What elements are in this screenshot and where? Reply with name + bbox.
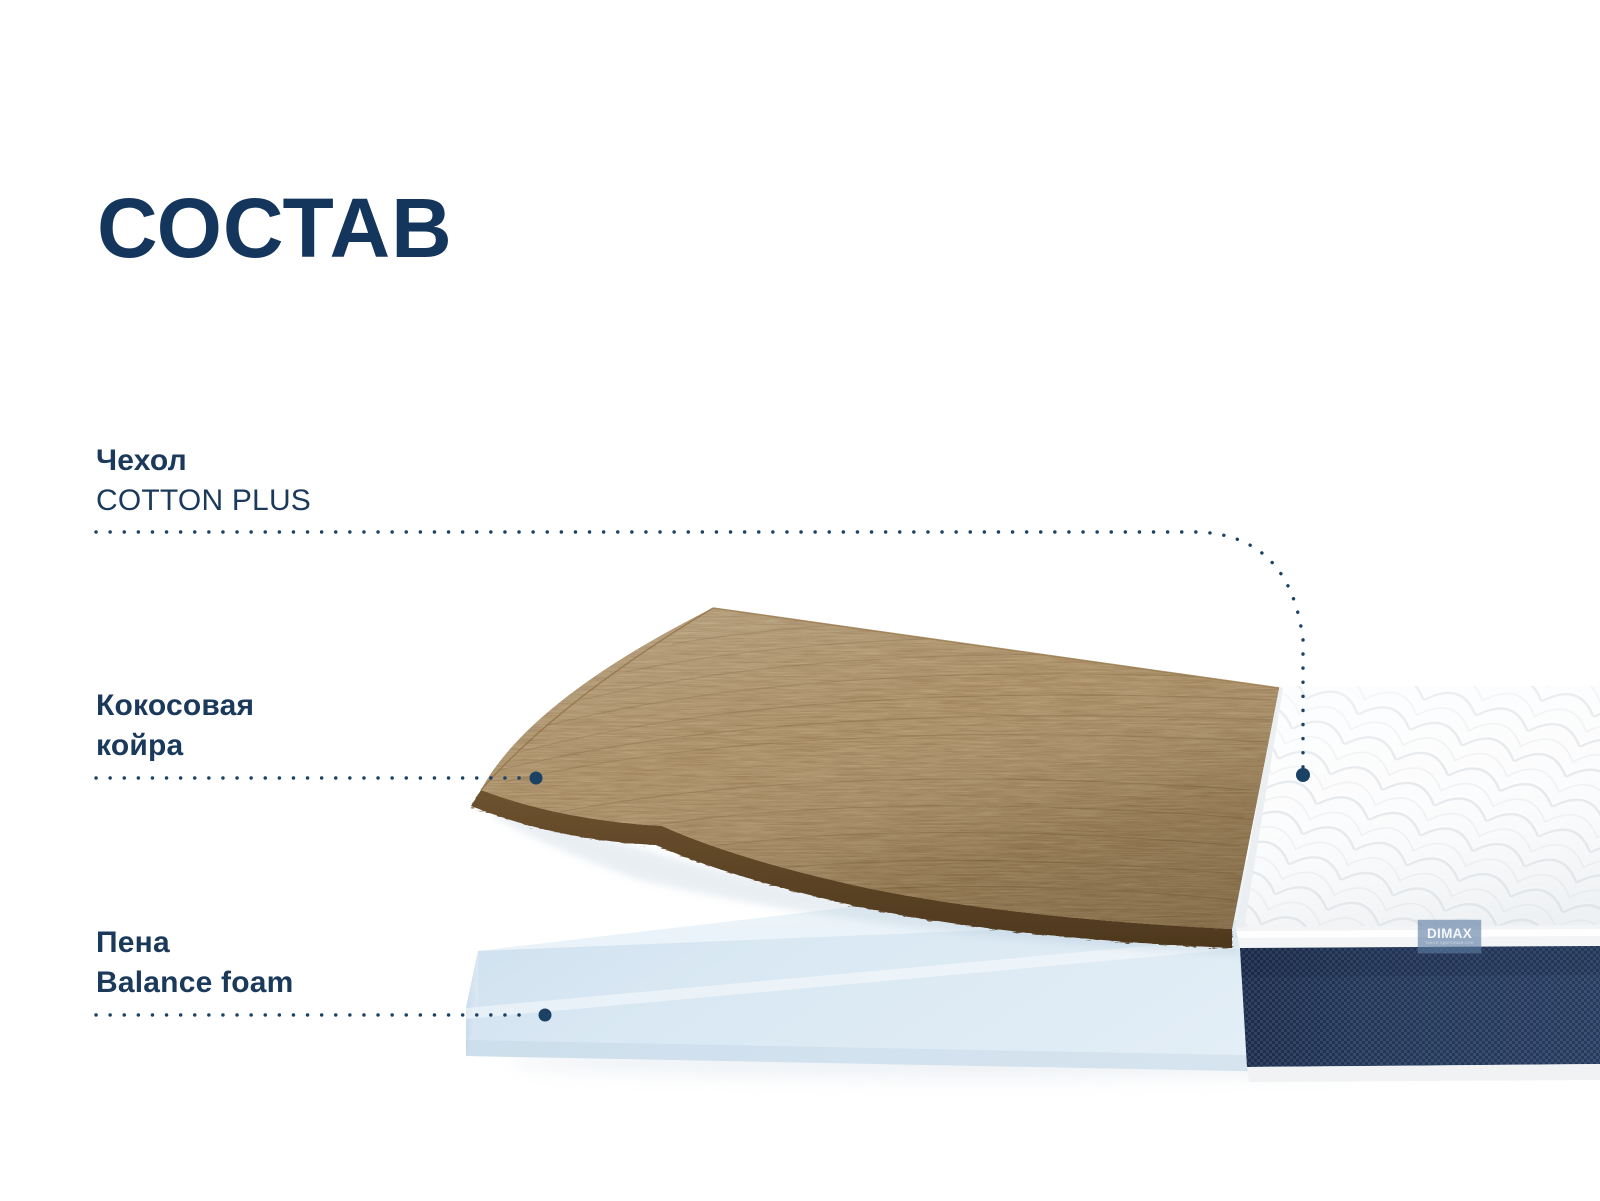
dimax-tagline-text: ТАКОЙ ЗДОРОВЫЙ СОН: [1425, 940, 1474, 946]
product-illustration: [0, 0, 1600, 1201]
callout-coir-line2: койра: [96, 726, 254, 766]
coconut-coir-layer: [460, 590, 1300, 950]
dimax-brand-badge: DIMAX ТАКОЙ ЗДОРОВЫЙ СОН: [1418, 920, 1481, 953]
callout-coir-line1: Кокосовая: [96, 686, 254, 726]
dimax-brand-text: DIMAX: [1427, 927, 1472, 940]
callout-coir: Кокосовая койра: [96, 686, 254, 766]
side-band: [1240, 946, 1600, 1082]
infographic-canvas: СОСТАВ: [0, 0, 1600, 1201]
callout-cover-line2: COTTON PLUS: [96, 481, 311, 521]
callout-cover: Чехол COTTON PLUS: [96, 441, 311, 521]
callout-foam: Пена Balance foam: [96, 923, 293, 1003]
callout-cover-line1: Чехол: [96, 441, 311, 481]
callout-foam-line2: Balance foam: [96, 963, 293, 1003]
callout-foam-line1: Пена: [96, 923, 293, 963]
